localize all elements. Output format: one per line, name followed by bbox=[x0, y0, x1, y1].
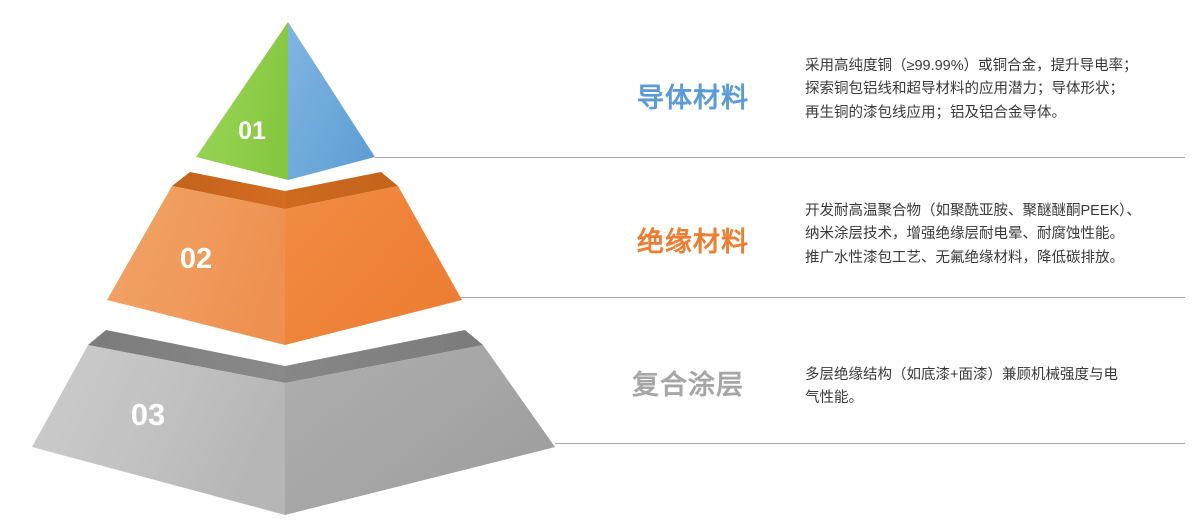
tier-1-title: 导体材料 bbox=[637, 85, 749, 112]
infographic-canvas: 03 02 01 导体材料 采用高纯度铜（≥99.99%）或铜合金，提升导电率；… bbox=[0, 0, 1195, 523]
tier-1-face-right bbox=[288, 22, 375, 180]
connector-line-1 bbox=[375, 157, 1185, 158]
tier-2-number: 02 bbox=[180, 243, 212, 275]
tier-2-title: 绝缘材料 bbox=[637, 229, 749, 256]
tier-2-face-right bbox=[285, 186, 462, 345]
tier-3-title: 复合涂层 bbox=[632, 372, 744, 399]
connector-line-3 bbox=[555, 443, 1185, 444]
tier-1-number: 01 bbox=[238, 117, 266, 145]
tier-3-description: 多层绝缘结构（如底漆+面漆）兼顾机械强度与电 气性能。 bbox=[805, 364, 1180, 411]
pyramid-tier-1[interactable]: 01 bbox=[196, 22, 375, 180]
tier-1-face-left bbox=[196, 22, 288, 180]
tier-1-description: 采用高纯度铜（≥99.99%）或铜合金，提升导电率； 探索铜包铝线和超导材料的应… bbox=[805, 55, 1190, 125]
connector-line-2 bbox=[460, 297, 1185, 298]
pyramid-tier-2[interactable]: 02 bbox=[107, 172, 462, 345]
tier-2-description: 开发耐高温聚合物（如聚酰亚胺、聚醚醚酮PEEK）、 纳米涂层技术，增强绝缘层耐电… bbox=[805, 200, 1195, 270]
tier-3-number: 03 bbox=[131, 397, 165, 432]
pyramid-tier-3[interactable]: 03 bbox=[32, 330, 555, 515]
